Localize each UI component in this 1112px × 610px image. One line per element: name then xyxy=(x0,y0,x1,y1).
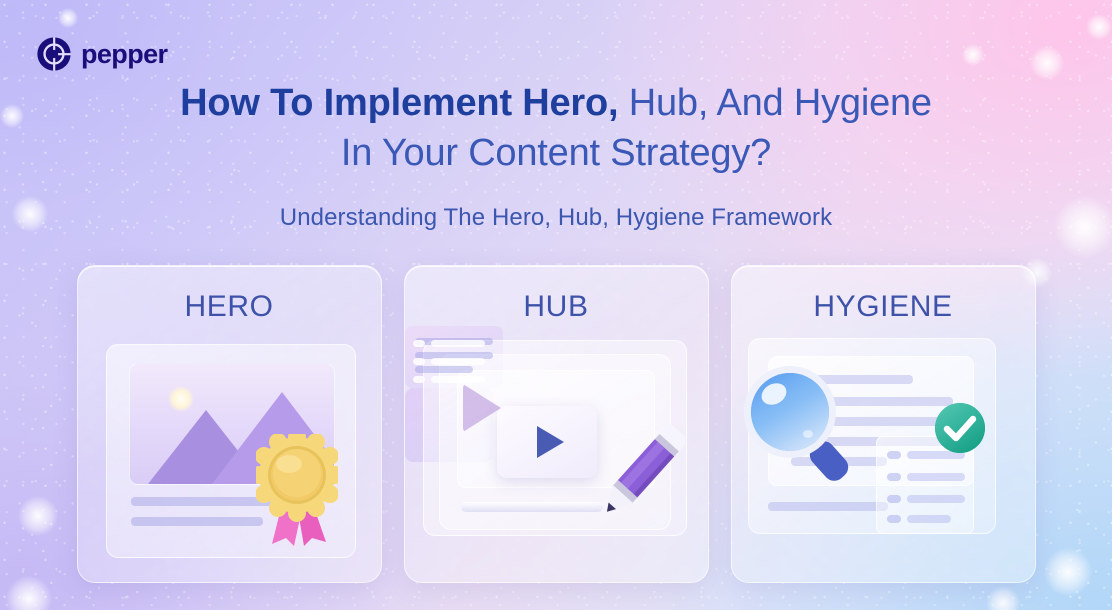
poster-canvas: pepper How To Implement Hero, Hub, And H… xyxy=(0,0,1112,610)
sun-icon xyxy=(168,386,194,412)
play-triangle-ghost-icon xyxy=(463,384,501,432)
check-circle-icon xyxy=(934,402,986,454)
list-bullet xyxy=(887,515,901,523)
card-hygiene-artwork xyxy=(732,326,1036,578)
list-bullet xyxy=(413,376,425,383)
card-hero[interactable]: HERO xyxy=(77,265,382,583)
pepper-logo-icon xyxy=(36,36,72,72)
bokeh-glow xyxy=(58,8,78,28)
text-line xyxy=(415,366,473,373)
text-line xyxy=(131,517,263,526)
title-bold-part: How To Implement Hero, xyxy=(180,82,618,124)
text-line xyxy=(431,340,485,347)
text-line xyxy=(907,515,951,523)
concept-card-row: HERO xyxy=(0,265,1112,583)
bokeh-glow xyxy=(962,44,984,66)
list-bullet xyxy=(887,495,901,503)
list-bullet xyxy=(413,340,425,347)
card-hero-artwork xyxy=(78,326,382,578)
card-hygiene[interactable]: HYGIENE xyxy=(731,265,1036,583)
page-title: How To Implement Hero, Hub, And Hygiene … xyxy=(0,78,1112,178)
card-hub[interactable]: HUB xyxy=(404,265,709,583)
text-line xyxy=(907,495,965,503)
list-bullet xyxy=(413,358,425,365)
pencil-icon xyxy=(593,414,697,522)
card-hero-label: HERO xyxy=(78,290,381,324)
brand-wordmark: pepper xyxy=(81,39,167,70)
play-triangle-icon xyxy=(537,426,564,458)
text-line xyxy=(907,473,965,481)
text-line xyxy=(431,358,485,365)
award-badge-icon xyxy=(256,434,338,546)
bokeh-glow xyxy=(986,586,1020,610)
list-bullet xyxy=(887,473,901,481)
magnifier-icon xyxy=(738,362,862,484)
title-regular-part: Hub, And Hygiene xyxy=(618,82,931,124)
card-hub-label: HUB xyxy=(405,290,708,324)
list-bullet xyxy=(887,451,901,459)
card-hub-artwork xyxy=(405,326,709,578)
text-line xyxy=(431,376,485,383)
title-line-2: In Your Content Strategy? xyxy=(0,128,1112,178)
title-line-1: How To Implement Hero, Hub, And Hygiene xyxy=(0,78,1112,128)
bokeh-glow xyxy=(1086,14,1112,40)
progress-bar xyxy=(461,502,603,512)
text-line xyxy=(768,502,888,511)
page-subtitle: Understanding The Hero, Hub, Hygiene Fra… xyxy=(0,204,1112,232)
brand-logo[interactable]: pepper xyxy=(36,36,167,72)
video-play-icon[interactable] xyxy=(497,406,597,478)
bokeh-glow xyxy=(1030,46,1064,80)
card-hygiene-label: HYGIENE xyxy=(732,290,1035,324)
